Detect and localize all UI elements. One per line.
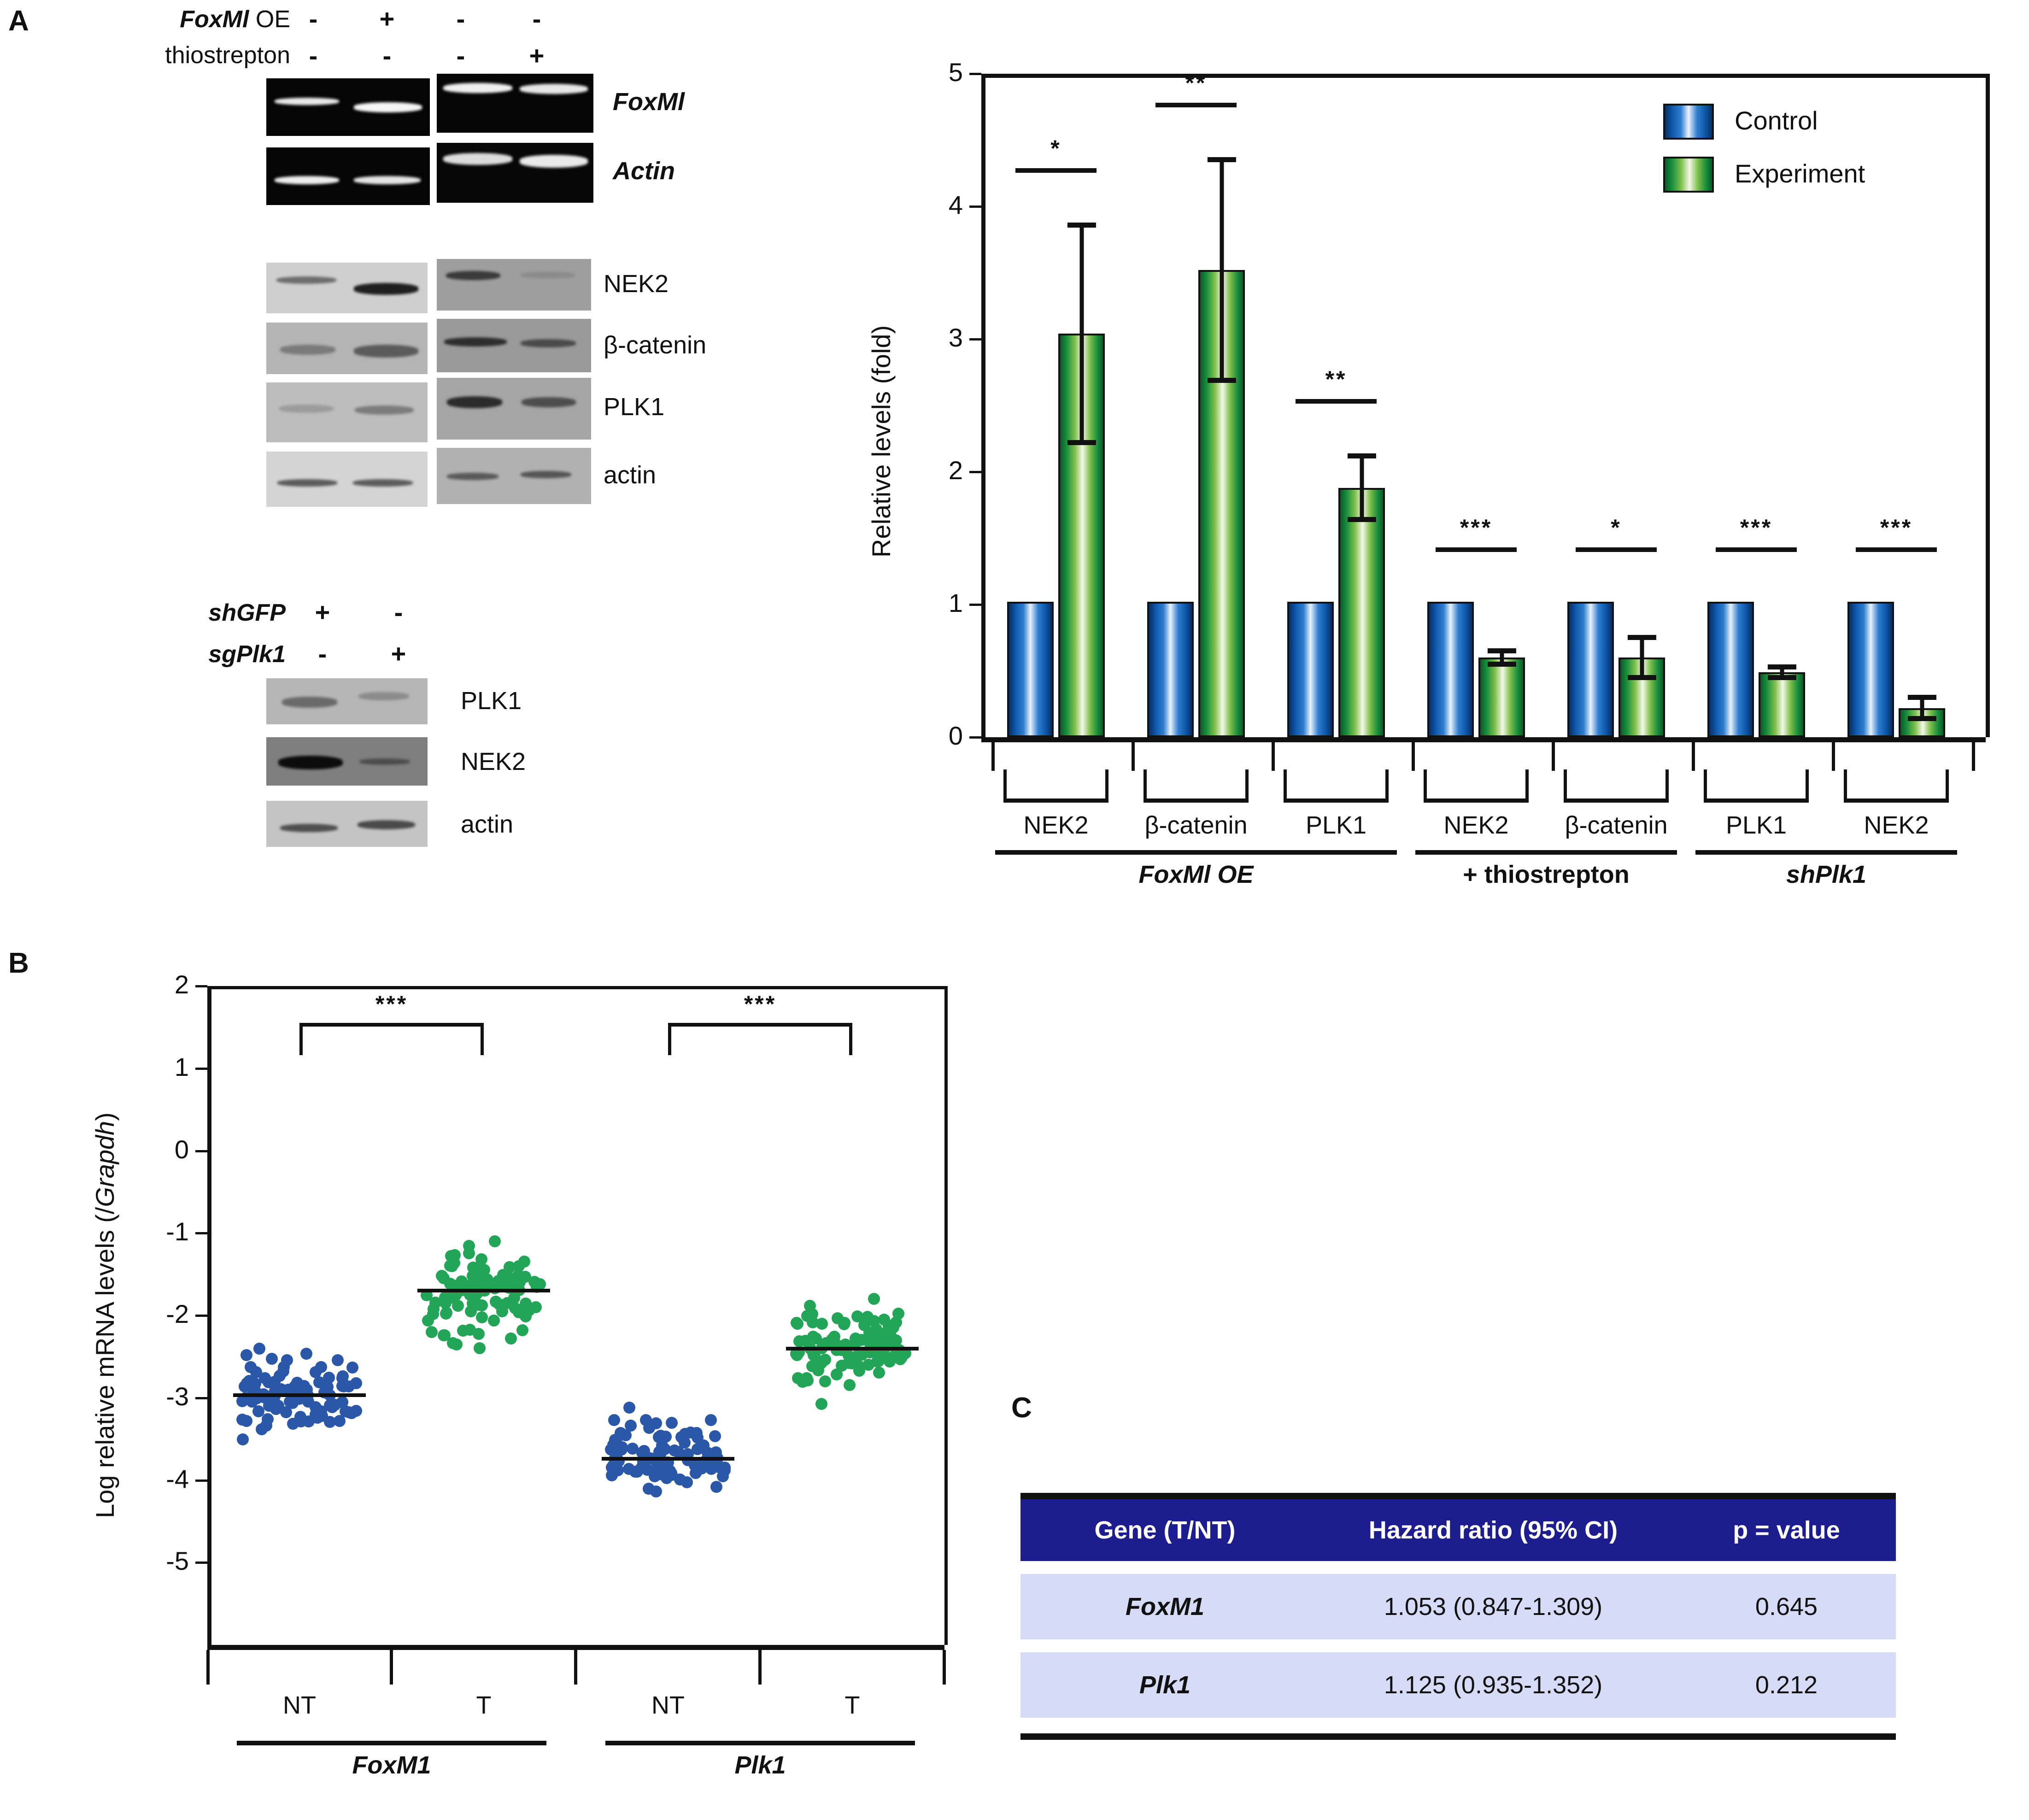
error-bar-cap-top <box>1067 223 1096 228</box>
scatter-point <box>300 1348 312 1360</box>
blot-bcatenin-right <box>437 319 591 372</box>
bracket-part <box>1105 769 1108 803</box>
significance-bar-1 <box>1155 103 1236 107</box>
bracket-part <box>1946 769 1949 803</box>
sign-sgplk1-2: + <box>380 639 417 669</box>
scatter-point <box>447 1337 459 1349</box>
y-axis-title: Relative levels (fold) <box>866 325 896 558</box>
bracket-part <box>1564 769 1567 803</box>
scatter-point <box>473 1328 485 1340</box>
gel-top-row-label-foxml-plain: OE <box>249 6 290 33</box>
table-cell-hazard-ratio-0: 1.053 (0.847-1.309) <box>1309 1574 1677 1639</box>
category-bracket-5 <box>1704 769 1808 803</box>
scatter-y-tick-label-1: 1 <box>131 1052 189 1082</box>
scatter-point <box>851 1310 863 1322</box>
table-header-row: Gene (T/NT)Hazard ratio (95% CI)p = valu… <box>1020 1499 1896 1561</box>
condition-label-1: + thiostrepton <box>1415 860 1677 889</box>
blot2-plk1 <box>266 678 428 724</box>
chart-top-border <box>981 74 1986 78</box>
bar-control-6 <box>1847 602 1894 737</box>
legend-swatch-control <box>1663 104 1714 140</box>
gel-top-row-label-thiostrepton: thiostrepton <box>83 41 290 69</box>
scatter-point <box>856 1349 868 1361</box>
table-cell-pvalue-0: 0.645 <box>1677 1574 1896 1639</box>
scatter-point <box>844 1379 856 1391</box>
table-spacer-cell <box>1020 1718 1896 1731</box>
x-axis-line <box>981 737 1986 742</box>
bracket-part <box>1844 769 1847 803</box>
error-bar-cap-top <box>1487 648 1516 653</box>
scatter-point <box>465 1305 477 1317</box>
scatter-y-axis-title: Log relative mRNA levels (/Grapdh) <box>90 1112 120 1518</box>
y-title-part2: ) <box>90 1112 119 1121</box>
y-tick-4 <box>969 205 981 208</box>
scatter-point <box>797 1376 809 1388</box>
table-cell-pvalue-1: 0.212 <box>1677 1652 1896 1718</box>
x-tick-1 <box>1272 742 1275 771</box>
scatter-y-tick-1 <box>195 1068 207 1070</box>
scatter-point <box>422 1315 434 1327</box>
scatter-point <box>609 1434 621 1446</box>
significance-bar-4 <box>1576 547 1656 552</box>
y-tick-label-4: 4 <box>912 190 963 220</box>
scatter-x-axis <box>207 1645 944 1650</box>
significance-bar-2 <box>1296 399 1376 404</box>
error-bar-cap-top <box>1767 664 1796 669</box>
scatter-point <box>819 1354 831 1366</box>
condition-label-0: FoxMl OE <box>995 860 1396 889</box>
scatter-point <box>516 1324 528 1336</box>
x-tick-0 <box>1132 742 1135 771</box>
scatter-y-tick-6 <box>195 1479 207 1482</box>
gel-foxml-left <box>266 78 430 136</box>
scatter-point <box>252 1405 264 1417</box>
gel-actin-left <box>266 147 430 205</box>
scatter-point <box>520 1310 532 1322</box>
error-bar-cap-bottom <box>1207 378 1236 383</box>
scatter-point <box>868 1293 880 1305</box>
hazard-ratio-table: Gene (T/NT)Hazard ratio (95% CI)p = valu… <box>1020 1499 1896 1731</box>
scatter-y-tick-4 <box>195 1315 207 1317</box>
scatter-point <box>608 1414 620 1426</box>
error-bar-line <box>1360 453 1364 523</box>
scatter-y-tick-2 <box>195 1150 207 1152</box>
error-bar-0 <box>1058 223 1104 446</box>
bracket-part <box>1003 798 1108 803</box>
scatter-point <box>896 1351 908 1363</box>
x-tick-4 <box>1692 742 1695 771</box>
sign-shgfp-2: - <box>380 597 417 627</box>
bar-control-2 <box>1287 602 1333 737</box>
scatter-x-tick-3 <box>943 1650 946 1685</box>
scatter-point <box>518 1256 530 1268</box>
scatter-y-tick-label-4: -2 <box>131 1299 189 1329</box>
y-tick-0 <box>969 736 981 739</box>
scatter-point <box>838 1318 850 1330</box>
gel-foxml-right <box>437 74 593 133</box>
y-tick-label-5: 5 <box>912 57 963 87</box>
scatter-point <box>294 1414 306 1426</box>
median-line-3 <box>786 1347 919 1350</box>
condition-label-2: shPlk1 <box>1695 860 1957 889</box>
scatter-point <box>323 1372 335 1384</box>
blot-actin-right <box>437 448 591 504</box>
scatter-significance-stars-1: *** <box>668 991 852 1017</box>
scatter-point <box>625 1420 637 1432</box>
category-bracket-6 <box>1844 769 1948 803</box>
scatter-y-tick-label-5: -3 <box>131 1381 189 1411</box>
bracket-part <box>1525 769 1529 803</box>
scatter-point <box>256 1423 268 1435</box>
table-spacer-row <box>1020 1561 1896 1574</box>
blot-actin-left <box>266 452 428 507</box>
error-bar-3 <box>1478 648 1525 667</box>
gel-bottom-row-label-sgplk1: sgPlk1 <box>83 640 286 668</box>
category-bracket-4 <box>1564 769 1668 803</box>
condition-underline-0 <box>995 850 1396 855</box>
scatter-x-tick-2 <box>758 1650 762 1685</box>
blot2-label-nek2: NEK2 <box>461 747 526 776</box>
table-row: FoxM11.053 (0.847-1.309)0.645 <box>1020 1574 1896 1639</box>
scatter-point <box>828 1331 840 1343</box>
category-label-0: NEK2 <box>976 811 1136 840</box>
error-bar-4 <box>1619 635 1665 680</box>
bracket-part <box>1003 769 1007 803</box>
scatter-point <box>316 1410 328 1422</box>
category-label-5: PLK1 <box>1676 811 1836 840</box>
bracket-part <box>1284 798 1388 803</box>
scatter-point <box>440 1307 452 1319</box>
table-header-2: p = value <box>1677 1499 1896 1561</box>
gene-underline-0 <box>237 1741 546 1745</box>
scatter-point <box>892 1308 904 1320</box>
bracket-part <box>1144 769 1147 803</box>
y-tick-label-3: 3 <box>912 323 963 352</box>
error-bar-cap-bottom <box>1907 716 1936 721</box>
scatter-point <box>350 1405 362 1417</box>
error-bar-cap-bottom <box>1067 440 1096 445</box>
error-bar-cap-bottom <box>1627 675 1656 680</box>
scatter-y-tick-label-7: -5 <box>131 1546 189 1576</box>
y-tick-label-0: 0 <box>912 721 963 751</box>
scatter-x-tick-0 <box>390 1650 393 1685</box>
table-spacer-row <box>1020 1639 1896 1652</box>
condition-underline-2 <box>1695 850 1957 855</box>
y-title-part1: Log relative mRNA levels (/ <box>90 1207 119 1518</box>
scatter-point <box>476 1311 488 1323</box>
scatter-y-tick-7 <box>195 1562 207 1564</box>
scatter-point <box>885 1331 897 1343</box>
gene-underline-1 <box>605 1741 915 1745</box>
scatter-point <box>448 1257 460 1269</box>
blot-label-bcatenin: β-catenin <box>604 331 706 359</box>
blot-plk1-left <box>266 382 428 442</box>
bar-experiment-3 <box>1478 658 1525 737</box>
scatter-point <box>488 1315 500 1327</box>
scatter-chart: 210-1-2-3-4-5Log relative mRNA levels (/… <box>74 972 977 1802</box>
scatter-point <box>240 1415 252 1427</box>
bracket-part <box>1844 798 1948 803</box>
blot-label-actin: actin <box>604 461 656 489</box>
y-axis-line <box>981 74 985 737</box>
sign-foxml-oe-4: - <box>518 4 555 34</box>
error-bar-line <box>1220 157 1224 383</box>
x-tick-3 <box>1552 742 1555 771</box>
scatter-group-label-3: T <box>788 1691 917 1720</box>
bracket-left <box>299 1023 303 1055</box>
scatter-point <box>705 1414 717 1426</box>
significance-stars-3: *** <box>1436 514 1516 541</box>
significance-stars-1: ** <box>1155 70 1236 96</box>
bracket-top <box>668 1023 852 1027</box>
table-spacer-cell <box>1020 1561 1896 1574</box>
error-bar-cap-top <box>1907 695 1936 700</box>
bar-chart: 012345Relative levels (fold)*NEK2**β-cat… <box>862 55 2023 931</box>
bracket-part <box>1424 769 1427 803</box>
sign-shgfp-1: + <box>304 597 341 627</box>
median-line-1 <box>417 1289 550 1292</box>
error-bar-line <box>1079 223 1084 446</box>
bracket-part <box>1245 769 1249 803</box>
table-header-0: Gene (T/NT) <box>1020 1499 1309 1561</box>
scatter-point <box>277 1365 289 1377</box>
scatter-point <box>709 1430 721 1442</box>
table-spacer-row <box>1020 1718 1896 1731</box>
x-tick-5 <box>1832 742 1835 771</box>
scatter-point <box>253 1343 265 1355</box>
bracket-part <box>1424 798 1528 803</box>
scatter-y-axis <box>207 986 211 1645</box>
blot2-nek2 <box>266 737 428 786</box>
category-bracket-0 <box>1003 769 1108 803</box>
blot-nek2-left <box>266 263 428 313</box>
bracket-part <box>1385 769 1389 803</box>
sign-thiostrepton-1: - <box>295 41 332 70</box>
bracket-right <box>849 1023 852 1055</box>
scatter-point <box>710 1481 722 1493</box>
scatter-point <box>836 1360 848 1372</box>
scatter-group-label-1: T <box>419 1691 548 1720</box>
scatter-y-tick-0 <box>195 985 207 987</box>
bar-control-4 <box>1567 602 1613 737</box>
legend-label-experiment: Experiment <box>1735 159 1865 188</box>
bracket-part <box>1806 769 1809 803</box>
table-cell-gene-0: FoxM1 <box>1020 1574 1309 1639</box>
bracket-part <box>1144 798 1248 803</box>
error-bar-cap-bottom <box>1347 517 1376 522</box>
sign-sgplk1-1: - <box>304 639 341 669</box>
blot-nek2-right <box>437 259 591 311</box>
sign-foxml-oe-1: - <box>295 4 332 34</box>
error-bar-cap-top <box>1207 157 1236 162</box>
scatter-significance-stars-0: *** <box>299 991 484 1017</box>
y-title-italic: Grapdh <box>90 1121 119 1207</box>
scatter-point <box>237 1433 249 1445</box>
scatter-right-border <box>944 986 948 1645</box>
bracket-left <box>668 1023 671 1055</box>
error-bar-cap-bottom <box>1487 662 1516 667</box>
y-tick-label-2: 2 <box>912 455 963 485</box>
y-tick-2 <box>969 471 981 473</box>
category-label-3: NEK2 <box>1396 811 1556 840</box>
significance-stars-2: ** <box>1296 366 1376 393</box>
scatter-point <box>692 1432 704 1444</box>
bracket-top <box>299 1023 484 1027</box>
panel-c-letter: C <box>1011 1391 1032 1424</box>
blot2-label-plk1: PLK1 <box>461 687 522 715</box>
scatter-group-label-0: NT <box>235 1691 364 1720</box>
hazard-ratio-table-wrapper: Gene (T/NT)Hazard ratio (95% CI)p = valu… <box>1020 1493 1951 1769</box>
category-label-1: β-catenin <box>1116 811 1276 840</box>
significance-bar-0 <box>1015 168 1096 173</box>
scatter-point <box>650 1485 662 1497</box>
error-bar-cap-top <box>1347 453 1376 458</box>
error-bar-cap-bottom <box>1767 675 1796 680</box>
bar-control-1 <box>1147 602 1193 737</box>
significance-stars-6: *** <box>1856 514 1936 541</box>
scatter-point <box>474 1342 486 1354</box>
gel-top-row-label-foxml-italic: FoxMl <box>180 6 249 33</box>
scatter-point <box>717 1470 729 1482</box>
scatter-x-tick-1 <box>574 1650 577 1685</box>
gel-top-row-label-foxml-oe: FoxMl OE <box>97 6 290 33</box>
blot2-label-actin: actin <box>461 810 513 839</box>
blot-plk1-right <box>437 378 591 440</box>
scatter-point <box>509 1302 521 1314</box>
y-tick-label-1: 1 <box>912 588 963 618</box>
category-label-4: β-catenin <box>1536 811 1696 840</box>
bar-experiment-5 <box>1759 672 1805 737</box>
x-tick-2 <box>1412 742 1415 771</box>
blot2-actin <box>266 801 428 847</box>
scatter-significance-bracket-0 <box>299 1023 484 1055</box>
blot-bcatenin-left <box>266 323 428 374</box>
scatter-point <box>812 1364 824 1376</box>
scatter-point <box>606 1469 618 1481</box>
scatter-group-label-2: NT <box>604 1691 733 1720</box>
chart-right-border <box>1986 74 1990 737</box>
legend-swatch-experiment <box>1663 157 1714 193</box>
scatter-point <box>649 1470 661 1482</box>
blot-label-nek2: NEK2 <box>604 270 669 298</box>
scatter-point <box>346 1362 358 1374</box>
median-line-2 <box>602 1457 734 1461</box>
error-bar-5 <box>1759 664 1805 681</box>
scatter-y-tick-label-0: 2 <box>131 969 189 999</box>
bracket-part <box>1284 769 1287 803</box>
median-line-0 <box>233 1393 366 1397</box>
scatter-point <box>819 1375 831 1387</box>
scatter-y-tick-label-6: -4 <box>131 1464 189 1494</box>
scatter-top-border <box>207 986 944 989</box>
scatter-point <box>338 1380 350 1392</box>
scatter-point <box>530 1301 542 1313</box>
scatter-y-tick-label-3: -1 <box>131 1216 189 1246</box>
scatter-point <box>436 1270 448 1282</box>
error-bar-line <box>1640 635 1644 680</box>
bracket-right <box>481 1023 484 1055</box>
panel-a-letter: A <box>8 5 29 37</box>
scatter-y-tick-3 <box>195 1232 207 1234</box>
significance-stars-5: *** <box>1716 514 1796 541</box>
scatter-point <box>534 1278 546 1290</box>
table-spacer-cell <box>1020 1639 1896 1652</box>
y-tick-3 <box>969 338 981 341</box>
scatter-point <box>792 1318 803 1330</box>
bar-control-5 <box>1707 602 1753 737</box>
error-bar-1 <box>1198 157 1244 383</box>
bar-control-0 <box>1007 602 1053 737</box>
bracket-part <box>1704 769 1707 803</box>
gene-label-1: Plk1 <box>605 1751 915 1779</box>
table-header-1: Hazard ratio (95% CI) <box>1309 1499 1677 1561</box>
scatter-y-tick-5 <box>195 1397 207 1399</box>
sign-foxml-oe-2: + <box>369 4 405 34</box>
sign-foxml-oe-3: - <box>442 4 479 34</box>
table-top-rule <box>1020 1493 1896 1499</box>
scatter-point <box>505 1333 517 1344</box>
scatter-point <box>240 1349 252 1361</box>
scatter-point <box>643 1422 655 1434</box>
scatter-point <box>332 1354 344 1366</box>
table-row: Plk11.125 (0.935-1.352)0.212 <box>1020 1652 1896 1718</box>
scatter-point <box>266 1353 278 1365</box>
bar-experiment-2 <box>1338 488 1384 737</box>
error-bar-2 <box>1338 453 1384 523</box>
scatter-point <box>426 1326 438 1338</box>
x-tick-6 <box>1972 742 1975 771</box>
scatter-point <box>816 1318 828 1330</box>
error-bar-6 <box>1899 695 1945 722</box>
scatter-point <box>623 1402 635 1414</box>
y-tick-5 <box>969 73 981 75</box>
gel-actin-right <box>437 143 593 203</box>
significance-bar-6 <box>1856 547 1936 552</box>
y-tick-1 <box>969 604 981 606</box>
scatter-point <box>457 1325 469 1337</box>
table-cell-gene-1: Plk1 <box>1020 1652 1309 1718</box>
significance-bar-5 <box>1716 547 1796 552</box>
scatter-point <box>245 1361 257 1373</box>
scatter-point <box>519 1271 531 1283</box>
scatter-point <box>259 1372 271 1384</box>
bracket-part <box>1665 769 1669 803</box>
bracket-part <box>1704 798 1808 803</box>
panel-b-letter: B <box>8 947 29 980</box>
blot-label-plk1: PLK1 <box>604 393 664 421</box>
scatter-point <box>873 1367 885 1379</box>
sign-thiostrepton-3: - <box>442 41 479 70</box>
category-label-6: NEK2 <box>1816 811 1976 840</box>
x-tick-start <box>991 742 995 771</box>
scatter-point <box>310 1366 322 1378</box>
scatter-point <box>326 1401 338 1413</box>
scatter-point <box>489 1235 501 1247</box>
category-bracket-3 <box>1424 769 1528 803</box>
category-bracket-2 <box>1284 769 1388 803</box>
scatter-point <box>666 1417 678 1429</box>
blot-label-actin-gel: Actin <box>613 157 675 185</box>
table-bottom-rule <box>1020 1733 1896 1740</box>
scatter-point <box>873 1355 885 1367</box>
scatter-point <box>239 1380 251 1392</box>
condition-underline-1 <box>1415 850 1677 855</box>
scatter-point <box>815 1398 827 1410</box>
category-label-2: PLK1 <box>1256 811 1416 840</box>
significance-stars-0: * <box>1015 135 1096 162</box>
error-bar-cap-top <box>1627 635 1656 640</box>
gene-label-0: FoxM1 <box>237 1751 546 1779</box>
